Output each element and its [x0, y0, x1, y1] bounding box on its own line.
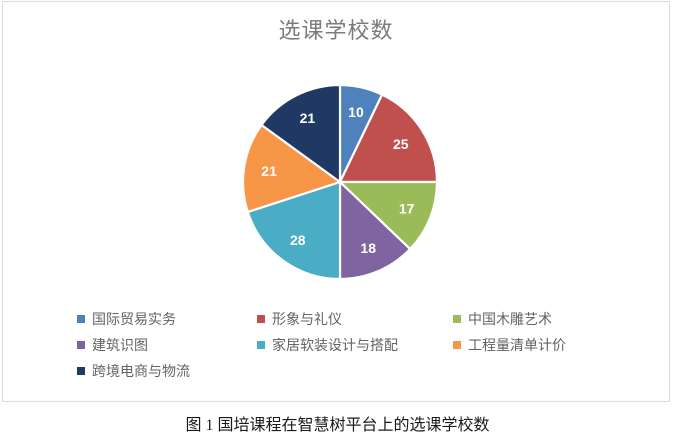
legend-swatch-icon [77, 341, 85, 349]
pie-chart-svg: 10251718282121 [241, 83, 439, 281]
legend-item-gongchengliangqingdanjijia[interactable]: 工程量清单计价 [453, 336, 603, 354]
legend-item-jiajurunzhuangsheji[interactable]: 家居软装设计与搭配 [257, 336, 453, 354]
legend-item-label: 工程量清单计价 [468, 336, 566, 354]
pie-slice-data-label: 21 [261, 163, 277, 179]
legend-swatch-icon [453, 315, 461, 323]
pie-slice-group [243, 85, 437, 279]
pie-slice-data-label: 25 [393, 136, 409, 152]
pie-slice-data-label: 21 [300, 110, 316, 126]
legend-item-label: 建筑识图 [92, 336, 148, 354]
legend-item-label: 国际贸易实务 [92, 310, 176, 328]
pie-slice-data-label: 17 [399, 201, 415, 217]
legend-row: 建筑识图 家居软装设计与搭配 工程量清单计价 [77, 336, 607, 362]
legend-swatch-icon [77, 315, 85, 323]
legend-swatch-icon [77, 367, 85, 375]
legend-item-kuajingdianshangyuwuliu[interactable]: 跨境电商与物流 [77, 362, 257, 380]
legend-item-jianzhushitu[interactable]: 建筑识图 [77, 336, 257, 354]
legend-item-xingxiangyuliyi[interactable]: 形象与礼仪 [257, 310, 453, 328]
pie-slice-data-label: 18 [360, 240, 376, 256]
legend-item-label: 中国木雕艺术 [468, 310, 552, 328]
legend-item-label: 家居软装设计与搭配 [272, 336, 398, 354]
legend-item-zhongguomudiaoyishu[interactable]: 中国木雕艺术 [453, 310, 603, 328]
legend-swatch-icon [257, 341, 265, 349]
legend-row: 国际贸易实务 形象与礼仪 中国木雕艺术 [77, 310, 607, 336]
legend-item-guojimaoyishiwu[interactable]: 国际贸易实务 [77, 310, 257, 328]
legend-item-label: 跨境电商与物流 [92, 362, 190, 380]
chart-legend: 国际贸易实务 形象与礼仪 中国木雕艺术 建筑识图 家居软装设计与搭配 [77, 310, 607, 388]
pie-slice-data-label: 10 [348, 104, 364, 120]
pie-chart-plot-area[interactable]: 10251718282121 [241, 83, 439, 281]
figure-caption: 图 1 国培课程在智慧树平台上的选课学校数 [0, 411, 675, 435]
chart-container[interactable]: 选课学校数 10251718282121 国际贸易实务 形象与礼仪 中国木雕艺术 [2, 1, 670, 402]
chart-title: 选课学校数 [3, 16, 669, 46]
legend-item-label: 形象与礼仪 [272, 310, 342, 328]
legend-swatch-icon [453, 341, 461, 349]
legend-swatch-icon [257, 315, 265, 323]
pie-slice-data-label: 28 [290, 232, 306, 248]
legend-row: 跨境电商与物流 [77, 362, 607, 388]
